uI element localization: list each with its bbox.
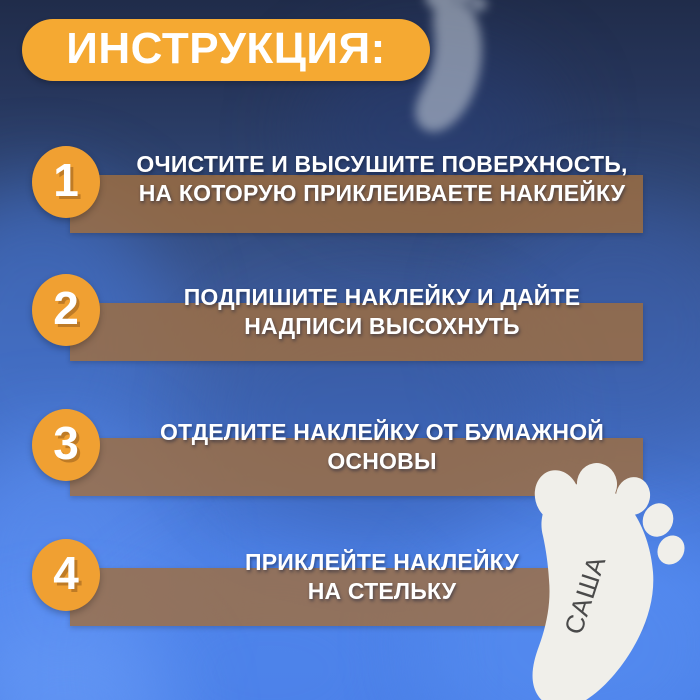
step-number: 4 [53,550,79,600]
instruction-poster: ИНСТРУКЦИЯ: 1 ОЧИСТИТЕ И ВЫСУШИТЕ ПОВЕРХ… [0,0,700,700]
step-number: 1 [53,157,79,207]
page-title-badge: ИНСТРУКЦИЯ: [22,19,430,81]
page-title: ИНСТРУКЦИЯ: [66,27,386,74]
step-number-badge: 4 [32,539,100,611]
step-number: 3 [53,420,79,470]
step-text-line: ПОДПИШИТЕ НАКЛЕЙКУ И ДАЙТЕ [104,283,660,312]
step-number-badge: 2 [32,274,100,346]
background-blob [0,620,180,700]
step-text: ПОДПИШИТЕ НАКЛЕЙКУ И ДАЙТЕ НАДПИСИ ВЫСОХ… [104,283,660,341]
step-text-line: ОТДЕЛИТЕ НАКЛЕЙКУ ОТ БУМАЖНОЙ [104,418,660,447]
step-number-badge: 1 [32,146,100,218]
step-text-line: ОЧИСТИТЕ И ВЫСУШИТЕ ПОВЕРХНОСТЬ, [104,150,660,179]
step-text: ОЧИСТИТЕ И ВЫСУШИТЕ ПОВЕРХНОСТЬ, НА КОТО… [104,150,660,208]
step-text-line: НАДПИСИ ВЫСОХНУТЬ [104,312,660,341]
step-text-line: НА КОТОРУЮ ПРИКЛЕИВАЕТЕ НАКЛЕЙКУ [104,179,660,208]
step-number: 2 [53,285,79,335]
step-number-badge: 3 [32,409,100,481]
